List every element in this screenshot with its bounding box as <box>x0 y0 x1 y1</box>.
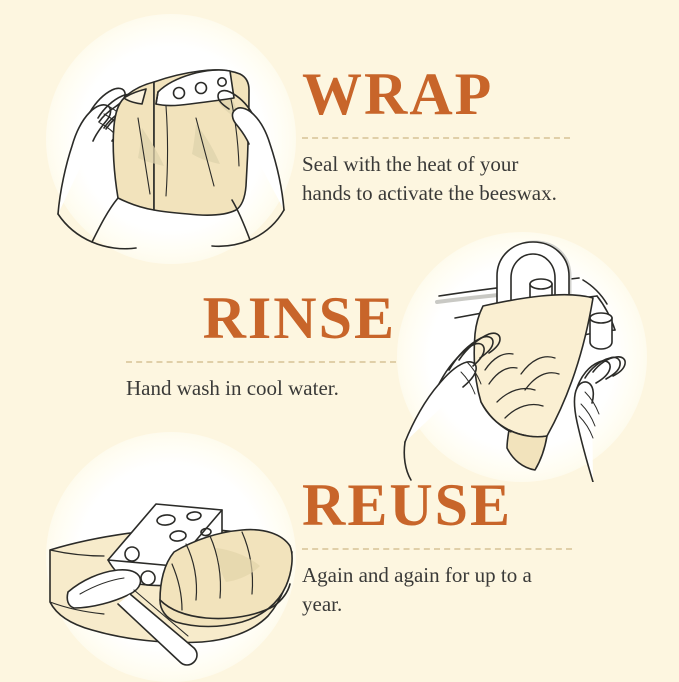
hands-wrapping-cheese-illustration <box>46 14 296 264</box>
step-reuse-text: REUSE Again and again for up to a year. <box>302 475 572 619</box>
infographic-canvas: WRAP Seal with the heat of your hands to… <box>0 0 679 679</box>
step-wrap-divider <box>302 137 570 139</box>
step-wrap-text: WRAP Seal with the heat of your hands to… <box>302 64 570 208</box>
wrapped-cheese-artwork <box>46 432 296 682</box>
hands-rinsing-wrap-under-faucet-illustration <box>397 232 647 482</box>
step-rinse-divider <box>126 361 396 363</box>
step-wrap-body: Seal with the heat of your hands to acti… <box>302 150 570 208</box>
hands-wrapping-cheese-artwork <box>46 14 296 264</box>
step-rinse-text: RINSE Hand wash in cool water. <box>126 288 396 403</box>
wrapped-cheese-with-knife-illustration <box>46 432 296 682</box>
step-rinse-body: Hand wash in cool water. <box>126 374 396 403</box>
step-rinse-heading: RINSE <box>126 288 396 348</box>
step-reuse-body: Again and again for up to a year. <box>302 561 572 619</box>
step-wrap-heading: WRAP <box>302 64 570 124</box>
step-reuse-heading: REUSE <box>302 475 572 535</box>
hands-rinsing-wrap-artwork <box>397 232 647 482</box>
step-reuse-divider <box>302 548 572 550</box>
